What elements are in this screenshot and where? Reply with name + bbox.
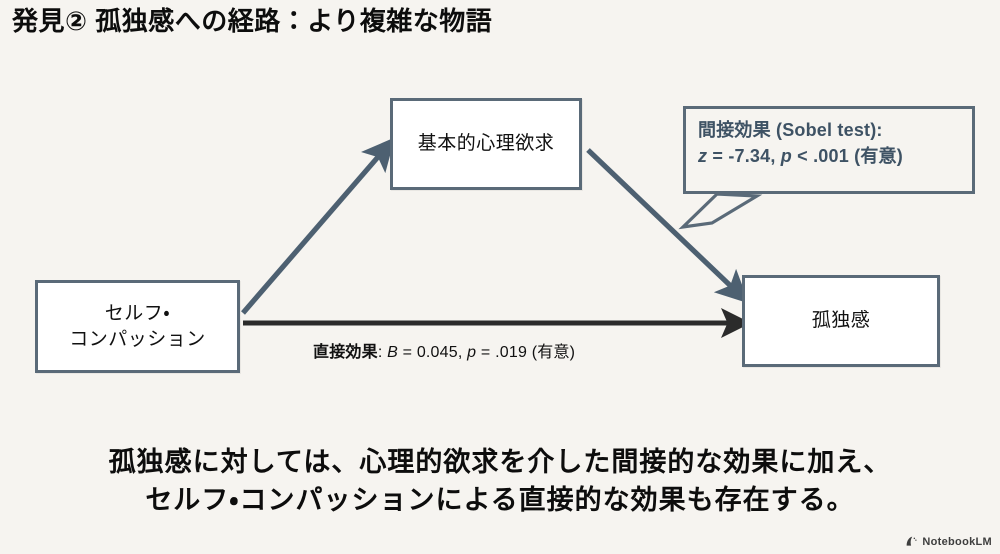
callout-line-2: z = -7.34, p < .001 (有意) xyxy=(698,143,962,169)
node-loneliness-label: 孤独感 xyxy=(812,308,871,334)
direct-effect-b-symbol: B xyxy=(387,344,398,361)
callout-tail xyxy=(683,194,757,227)
callout-comma: , xyxy=(770,146,780,166)
conclusion-line-2: セルフ・コンパッションによる直接的な効果も存在する。 xyxy=(0,481,1000,519)
page-title: 発見② 孤独感への経路：より複雑な物語 xyxy=(12,6,492,37)
callout-z-symbol: z xyxy=(698,146,707,166)
direct-effect-b-value: = 0.045, xyxy=(398,344,467,361)
indirect-effect-callout[interactable]: 間接効果 (Sobel test): z = -7.34, p < .001 (… xyxy=(683,106,975,194)
callout-indirect-label: 間接効果 xyxy=(698,120,771,140)
direct-effect-p-symbol: p xyxy=(467,344,476,361)
direct-effect-title: 直接効果 xyxy=(313,344,378,361)
notebooklm-logo-icon xyxy=(905,535,918,548)
callout-z-number: -7.34 xyxy=(728,146,770,166)
node-self-compassion-label: セルフ・ コンパッション xyxy=(69,301,206,352)
callout-z-value: = xyxy=(707,146,728,166)
notebooklm-watermark: NotebookLM xyxy=(905,535,992,548)
conclusion-text: 孤独感に対しては、心理的欲求を介した間接的な効果に加え、 セルフ・コンパッション… xyxy=(0,443,1000,520)
mediation-diagram: セルフ・ コンパッション 基本的心理欲求 孤独感 間接効果 (Sobel tes… xyxy=(0,60,1000,440)
node-basic-needs[interactable]: 基本的心理欲求 xyxy=(390,98,582,190)
callout-p-symbol: p xyxy=(781,146,792,166)
direct-effect-sep: : xyxy=(378,344,387,361)
direct-effect-label: 直接効果: B = 0.045, p = .019 (有意) xyxy=(313,338,575,362)
callout-p-number: < .001 xyxy=(797,146,849,166)
callout-significance-note: (有意) xyxy=(854,146,903,166)
callout-sobel-text: (Sobel test): xyxy=(771,120,883,140)
node-basic-needs-label: 基本的心理欲求 xyxy=(418,131,555,157)
node-self-compassion[interactable]: セルフ・ コンパッション xyxy=(35,280,240,373)
direct-effect-note: (有意) xyxy=(532,344,575,361)
node-loneliness[interactable]: 孤独感 xyxy=(742,275,940,367)
arrow-a-path xyxy=(243,150,384,313)
direct-effect-p-value: = .019 xyxy=(476,344,531,361)
callout-line-1: 間接効果 (Sobel test): xyxy=(698,117,962,143)
slide-canvas: 発見② 孤独感への経路：より複雑な物語 セルフ・ コンパッション xyxy=(0,0,1000,554)
notebooklm-watermark-label: NotebookLM xyxy=(922,536,992,548)
conclusion-line-1: 孤独感に対しては、心理的欲求を介した間接的な効果に加え、 xyxy=(0,443,1000,481)
